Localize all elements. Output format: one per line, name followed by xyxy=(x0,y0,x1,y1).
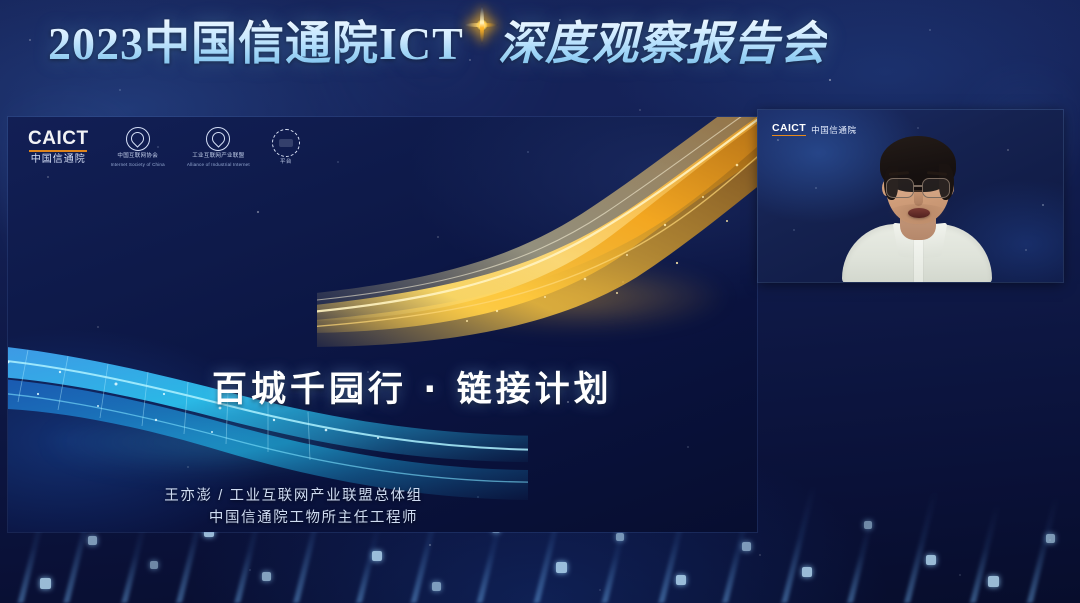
isc-mark-icon xyxy=(126,127,150,151)
broadcast-screen: 2023中国信通院ICT 深度观察报告会 xyxy=(0,0,1080,603)
aii-mark-icon xyxy=(206,127,230,151)
presentation-slide[interactable]: CAICT 中国信通院 中国互联网协会 Internet Society of … xyxy=(8,117,757,532)
presenter-video-panel[interactable]: CAICT 中国信通院 xyxy=(758,110,1063,282)
slide-title: 百城千园行 · 链接计划 xyxy=(8,367,757,413)
slide-logo-bar: CAICT 中国信通院 中国互联网协会 Internet Society of … xyxy=(28,123,300,171)
gear-platform-logo: 平台 xyxy=(272,129,300,166)
presenter-mouth xyxy=(908,208,930,218)
aii-logo: 工业互联网产业联盟 Alliance of Industrial Interne… xyxy=(187,127,250,168)
video-watermark-brand: CAICT xyxy=(772,123,806,136)
golden-plus-star-icon xyxy=(466,10,496,40)
video-watermark: CAICT 中国信通院 xyxy=(772,123,857,136)
gear-icon xyxy=(272,129,300,157)
caict-logo: CAICT 中国信通院 xyxy=(28,129,89,166)
event-title: 2023中国信通院ICT 深度观察报告会 xyxy=(48,16,827,72)
event-title-part-a: 2023中国信通院ICT xyxy=(48,16,464,72)
event-title-part-b: 深度观察报告会 xyxy=(498,16,827,72)
presenter-name-affiliation: 王亦澎 / 工业互联网产业联盟总体组 xyxy=(8,485,579,507)
presenter-shirt-placket xyxy=(914,236,923,282)
gold-ribbon-glow xyxy=(327,237,747,357)
slide-presenter-info: 王亦澎 / 工业互联网产业联盟总体组 中国信通院工物所主任工程师 xyxy=(8,485,757,529)
isc-logo: 中国互联网协会 Internet Society of China xyxy=(111,127,165,168)
presenter-avatar xyxy=(856,128,978,282)
presenter-role: 中国信通院工物所主任工程师 xyxy=(8,507,579,529)
presenter-nose xyxy=(914,190,923,206)
event-header: 2023中国信通院ICT 深度观察报告会 xyxy=(0,0,1080,100)
video-watermark-cn: 中国信通院 xyxy=(811,124,857,136)
caict-logo-rule xyxy=(29,150,87,153)
